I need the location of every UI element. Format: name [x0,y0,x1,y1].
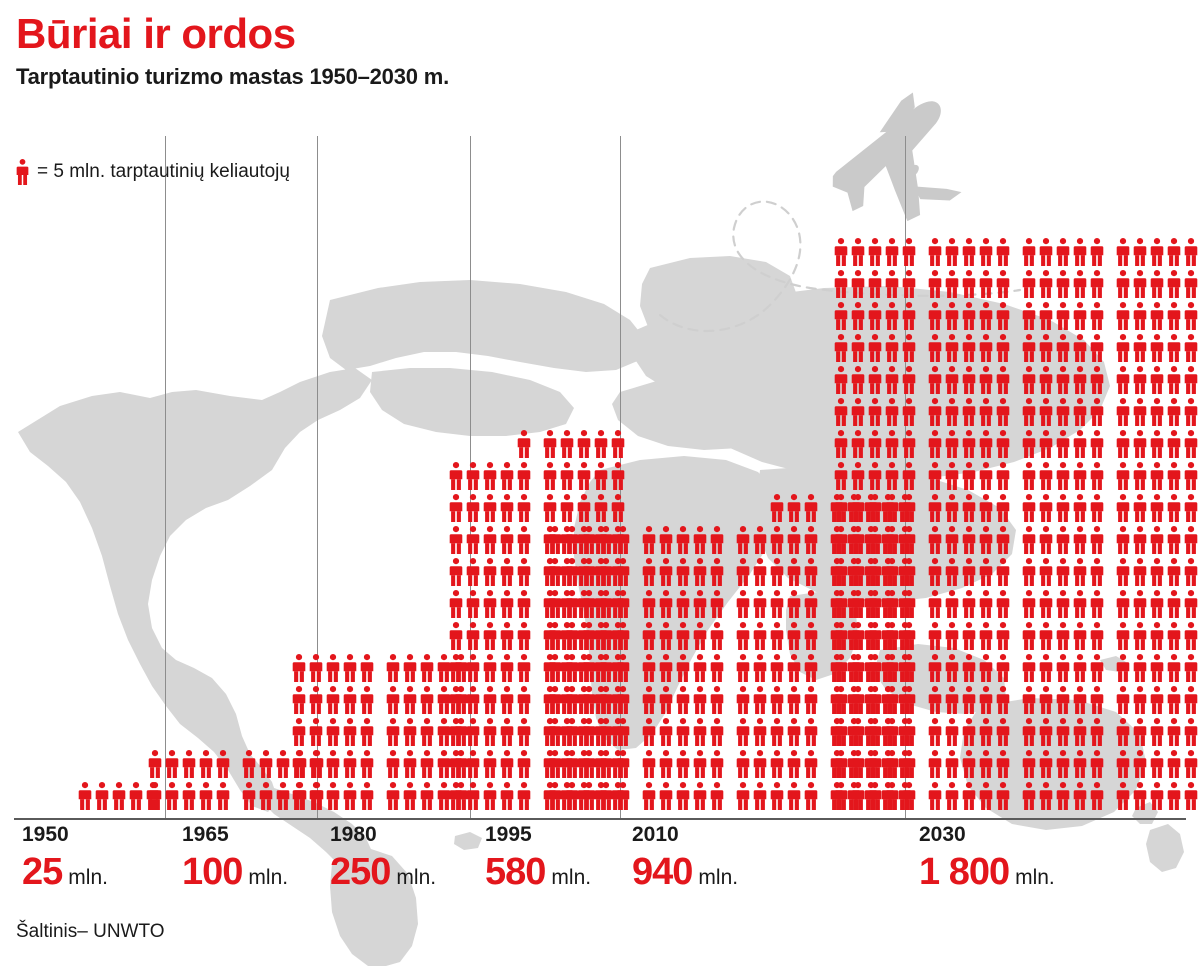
column-divider-0 [165,136,166,820]
person-figure-icon [1167,430,1181,458]
person-figure-icon [962,238,976,266]
person-figure-icon [979,558,993,586]
person-figure-icon [1056,526,1070,554]
person-figure-icon [851,590,865,618]
person-figure-icon [1116,750,1130,778]
person-figure-icon [466,750,480,778]
person-figure-icon [1167,590,1181,618]
person-figure-icon [1133,302,1147,330]
pictogram-subgroup [543,430,625,462]
person-figure-icon [483,590,497,618]
person-figure-icon [483,622,497,650]
pictogram-subgroup [1116,238,1198,270]
person-figure-icon [16,158,29,186]
person-figure-icon [1150,590,1164,618]
pictogram-subgroup [1022,302,1104,334]
person-figure-icon [962,430,976,458]
person-figure-icon [1039,334,1053,362]
person-figure-icon [292,654,306,682]
person-figure-icon [902,622,916,650]
person-figure-icon [659,686,673,714]
person-figure-icon [787,494,801,522]
person-figure-icon [1056,462,1070,490]
person-figure-icon [642,654,656,682]
pictogram-subgroup [148,750,230,782]
person-figure-icon [565,750,579,778]
pictogram-subgroup [1116,590,1198,622]
person-figure-icon [466,686,480,714]
pictogram-subgroup [292,750,374,782]
person-figure-icon [1184,526,1198,554]
person-figure-icon [868,366,882,394]
person-figure-icon [466,462,480,490]
label-value-row: 100mln. [182,853,288,891]
person-figure-icon [885,494,899,522]
person-figure-icon [868,430,882,458]
pictogram-row [913,270,1198,302]
person-figure-icon [928,302,942,330]
person-figure-icon [309,686,323,714]
person-figure-icon [885,270,899,298]
label-unit: mln. [248,867,288,888]
person-figure-icon [1090,270,1104,298]
person-figure-icon [1022,430,1036,458]
person-figure-icon [693,686,707,714]
person-figure-icon [1073,334,1087,362]
pictogram-subgroup [642,494,724,526]
person-figure-icon [599,686,613,714]
person-figure-icon [276,750,290,778]
person-figure-icon [483,782,497,810]
person-figure-icon [129,782,143,810]
person-figure-icon [1039,398,1053,426]
pictogram-subgroup [834,494,916,526]
person-figure-icon [834,782,848,810]
person-figure-icon [1022,302,1036,330]
pictogram-row [14,782,160,814]
person-figure-icon [693,558,707,586]
person-figure-icon [885,430,899,458]
pictogram-subgroup [548,782,630,814]
person-figure-icon [483,526,497,554]
person-figure-icon [1039,590,1053,618]
person-figure-icon [996,654,1010,682]
pictogram-subgroup [642,686,724,718]
person-figure-icon [885,686,899,714]
person-figure-icon [1039,430,1053,458]
person-figure-icon [1167,622,1181,650]
pictogram-subgroup [928,782,1010,814]
pictogram-subgroup [928,526,1010,558]
person-figure-icon [962,526,976,554]
person-figure-icon [1090,558,1104,586]
person-figure-icon [710,718,724,746]
person-figure-icon [996,526,1010,554]
person-figure-icon [642,590,656,618]
person-figure-icon [500,654,514,682]
person-figure-icon [834,750,848,778]
pictogram-row [479,430,625,462]
person-figure-icon [1116,686,1130,714]
pictogram-subgroup [449,462,531,494]
pictogram-subgroup [548,494,630,526]
pictogram-subgroup [834,654,916,686]
person-figure-icon [1056,302,1070,330]
person-figure-icon [1184,782,1198,810]
person-figure-icon [928,494,942,522]
column-label-2010: 2010940mln. [632,824,738,891]
pictogram-subgroup [1116,654,1198,686]
person-figure-icon [851,686,865,714]
infographic-root: Būriai ir ordos Tarptautinio turizmo mas… [0,0,1200,966]
pictogram-subgroup [928,718,1010,750]
pictogram-group-1980 [322,654,468,814]
person-figure-icon [962,750,976,778]
person-figure-icon [1056,718,1070,746]
person-figure-icon [945,622,959,650]
person-figure-icon [868,302,882,330]
person-figure-icon [1150,750,1164,778]
person-figure-icon [928,334,942,362]
person-figure-icon [928,750,942,778]
person-figure-icon [182,782,196,810]
person-figure-icon [500,782,514,810]
person-figure-icon [868,622,882,650]
person-figure-icon [1116,718,1130,746]
person-figure-icon [1167,686,1181,714]
person-figure-icon [242,782,256,810]
person-figure-icon [599,718,613,746]
pictogram-row [913,686,1198,718]
person-figure-icon [834,270,848,298]
person-figure-icon [642,782,656,810]
person-figure-icon [834,398,848,426]
person-figure-icon [1150,494,1164,522]
person-figure-icon [616,750,630,778]
person-figure-icon [548,718,562,746]
person-figure-icon [928,238,942,266]
person-figure-icon [996,366,1010,394]
person-figure-icon [1090,494,1104,522]
person-figure-icon [466,558,480,586]
person-figure-icon [804,590,818,618]
person-figure-icon [962,622,976,650]
person-figure-icon [642,718,656,746]
person-figure-icon [996,782,1010,810]
person-figure-icon [851,494,865,522]
person-figure-icon [78,782,92,810]
person-figure-icon [834,366,848,394]
pictogram-subgroup [292,686,374,718]
pictogram-subgroup [928,494,1010,526]
person-figure-icon [885,366,899,394]
person-figure-icon [902,590,916,618]
person-figure-icon [945,686,959,714]
person-figure-icon [309,750,323,778]
pictogram-subgroup [928,622,1010,654]
person-figure-icon [1022,750,1036,778]
person-figure-icon [449,558,463,586]
person-figure-icon [449,494,463,522]
person-figure-icon [466,718,480,746]
pictogram-row [322,782,468,814]
person-figure-icon [1039,302,1053,330]
person-figure-icon [979,334,993,362]
person-figure-icon [868,238,882,266]
person-figure-icon [1090,750,1104,778]
pictogram-subgroup [834,366,916,398]
page-title: Būriai ir ordos [16,12,449,56]
person-figure-icon [386,750,400,778]
person-figure-icon [642,558,656,586]
person-figure-icon [787,654,801,682]
pictogram-row [913,462,1198,494]
pictogram-subgroup [548,526,630,558]
person-figure-icon [736,590,750,618]
pictogram-subgroup [1022,654,1104,686]
person-figure-icon [928,782,942,810]
person-figure-icon [962,398,976,426]
person-figure-icon [885,526,899,554]
person-figure-icon [1133,686,1147,714]
person-figure-icon [386,718,400,746]
person-figure-icon [1039,782,1053,810]
person-figure-icon [804,526,818,554]
person-figure-icon [582,654,596,682]
person-figure-icon [851,366,865,394]
person-figure-icon [449,590,463,618]
label-value: 1 800 [919,853,1009,891]
person-figure-icon [1167,654,1181,682]
pictogram-subgroup [736,526,818,558]
person-figure-icon [962,782,976,810]
person-figure-icon [309,782,323,810]
person-figure-icon [1150,526,1164,554]
person-figure-icon [902,654,916,682]
pictogram-subgroup [548,558,630,590]
person-figure-icon [616,622,630,650]
person-figure-icon [1116,270,1130,298]
person-figure-icon [804,654,818,682]
person-figure-icon [517,750,531,778]
person-figure-icon [868,782,882,810]
person-figure-icon [326,686,340,714]
person-figure-icon [1039,718,1053,746]
person-figure-icon [517,590,531,618]
person-figure-icon [1056,622,1070,650]
person-figure-icon [449,654,463,682]
person-figure-icon [1133,590,1147,618]
person-figure-icon [386,782,400,810]
pictogram-subgroup [642,782,724,814]
person-figure-icon [1073,366,1087,394]
person-figure-icon [517,622,531,650]
person-figure-icon [676,590,690,618]
pictogram-subgroup [1022,430,1104,462]
pictogram-subgroup [449,558,531,590]
person-figure-icon [945,430,959,458]
person-figure-icon [1133,270,1147,298]
person-figure-icon [945,270,959,298]
person-figure-icon [996,558,1010,586]
person-figure-icon [1184,430,1198,458]
pictogram-subgroup [736,494,818,526]
person-figure-icon [1073,782,1087,810]
person-figure-icon [736,686,750,714]
person-figure-icon [642,526,656,554]
person-figure-icon [710,654,724,682]
person-figure-icon [693,782,707,810]
person-figure-icon [945,334,959,362]
pictogram-subgroup [834,270,916,302]
person-figure-icon [753,718,767,746]
person-figure-icon [599,590,613,618]
person-figure-icon [868,334,882,362]
person-figure-icon [885,654,899,682]
person-figure-icon [1090,462,1104,490]
pictogram-subgroup [642,558,724,590]
person-figure-icon [1133,718,1147,746]
person-figure-icon [885,398,899,426]
person-figure-icon [1073,302,1087,330]
person-figure-icon [1056,366,1070,394]
person-figure-icon [560,462,574,490]
person-figure-icon [787,622,801,650]
person-figure-icon [979,718,993,746]
person-figure-icon [885,622,899,650]
person-figure-icon [548,782,562,810]
person-figure-icon [885,718,899,746]
person-figure-icon [804,782,818,810]
person-figure-icon [851,398,865,426]
person-figure-icon [565,782,579,810]
person-figure-icon [834,590,848,618]
person-figure-icon [979,430,993,458]
person-figure-icon [996,718,1010,746]
person-figure-icon [710,590,724,618]
person-figure-icon [199,750,213,778]
pictogram-row [913,718,1198,750]
person-figure-icon [928,654,942,682]
pictogram-subgroup [1022,686,1104,718]
person-figure-icon [95,782,109,810]
person-figure-icon [979,366,993,394]
pictogram-subgroup [543,462,625,494]
person-figure-icon [276,782,290,810]
pictogram-subgroup [928,270,1010,302]
pictogram-subgroup [449,750,531,782]
pictogram-row [913,590,1198,622]
person-figure-icon [1039,654,1053,682]
person-figure-icon [1073,526,1087,554]
person-figure-icon [1150,238,1164,266]
pictogram-subgroup [1116,302,1198,334]
pictogram-subgroup [928,558,1010,590]
label-value-row: 1 800mln. [919,853,1055,891]
person-figure-icon [868,398,882,426]
person-figure-icon [403,750,417,778]
pictogram-row [913,366,1198,398]
person-figure-icon [642,750,656,778]
person-figure-icon [1184,718,1198,746]
person-figure-icon [787,686,801,714]
person-figure-icon [466,494,480,522]
person-figure-icon [676,622,690,650]
person-figure-icon [710,750,724,778]
person-figure-icon [500,750,514,778]
person-figure-icon [962,366,976,394]
person-figure-icon [834,558,848,586]
pictogram-subgroup [928,750,1010,782]
person-figure-icon [1022,238,1036,266]
pictogram-subgroup [548,654,630,686]
pictogram-subgroup [834,558,916,590]
person-figure-icon [753,654,767,682]
pictogram-subgroup [928,590,1010,622]
person-figure-icon [1116,366,1130,394]
person-figure-icon [928,366,942,394]
person-figure-icon [1133,558,1147,586]
person-figure-icon [565,718,579,746]
person-figure-icon [996,238,1010,266]
person-figure-icon [517,430,531,458]
pictogram-subgroup [928,430,1010,462]
pictogram-row [913,526,1198,558]
person-figure-icon [1133,654,1147,682]
pictogram-subgroup [1116,718,1198,750]
person-figure-icon [962,590,976,618]
person-figure-icon [1116,430,1130,458]
person-figure-icon [1116,334,1130,362]
person-figure-icon [616,654,630,682]
person-figure-icon [1022,334,1036,362]
pictogram-subgroup [292,782,374,814]
person-figure-icon [582,526,596,554]
pictogram-subgroup [1116,494,1198,526]
pictogram-row [322,654,468,686]
pictogram-subgroup [834,238,916,270]
pictogram-subgroup [1022,238,1104,270]
person-figure-icon [199,782,213,810]
header: Būriai ir ordos Tarptautinio turizmo mas… [16,12,449,90]
person-figure-icon [979,526,993,554]
person-figure-icon [804,686,818,714]
person-figure-icon [1039,558,1053,586]
person-figure-icon [292,750,306,778]
pictogram-subgroup [449,494,531,526]
person-figure-icon [885,750,899,778]
label-value-row: 250mln. [330,853,436,891]
person-figure-icon [962,494,976,522]
person-figure-icon [1073,398,1087,426]
label-value-row: 580mln. [485,853,591,891]
person-figure-icon [659,654,673,682]
person-figure-icon [1167,494,1181,522]
person-figure-icon [1133,238,1147,266]
person-figure-icon [770,718,784,746]
legend: = 5 mln. tarptautinių keliautojų [16,158,290,186]
person-figure-icon [1073,750,1087,778]
person-figure-icon [885,302,899,330]
person-figure-icon [1090,590,1104,618]
person-figure-icon [945,654,959,682]
person-figure-icon [1056,590,1070,618]
person-figure-icon [466,622,480,650]
person-figure-icon [979,622,993,650]
person-figure-icon [1167,782,1181,810]
pictogram-subgroup [449,686,531,718]
pictogram-subgroup [449,622,531,654]
